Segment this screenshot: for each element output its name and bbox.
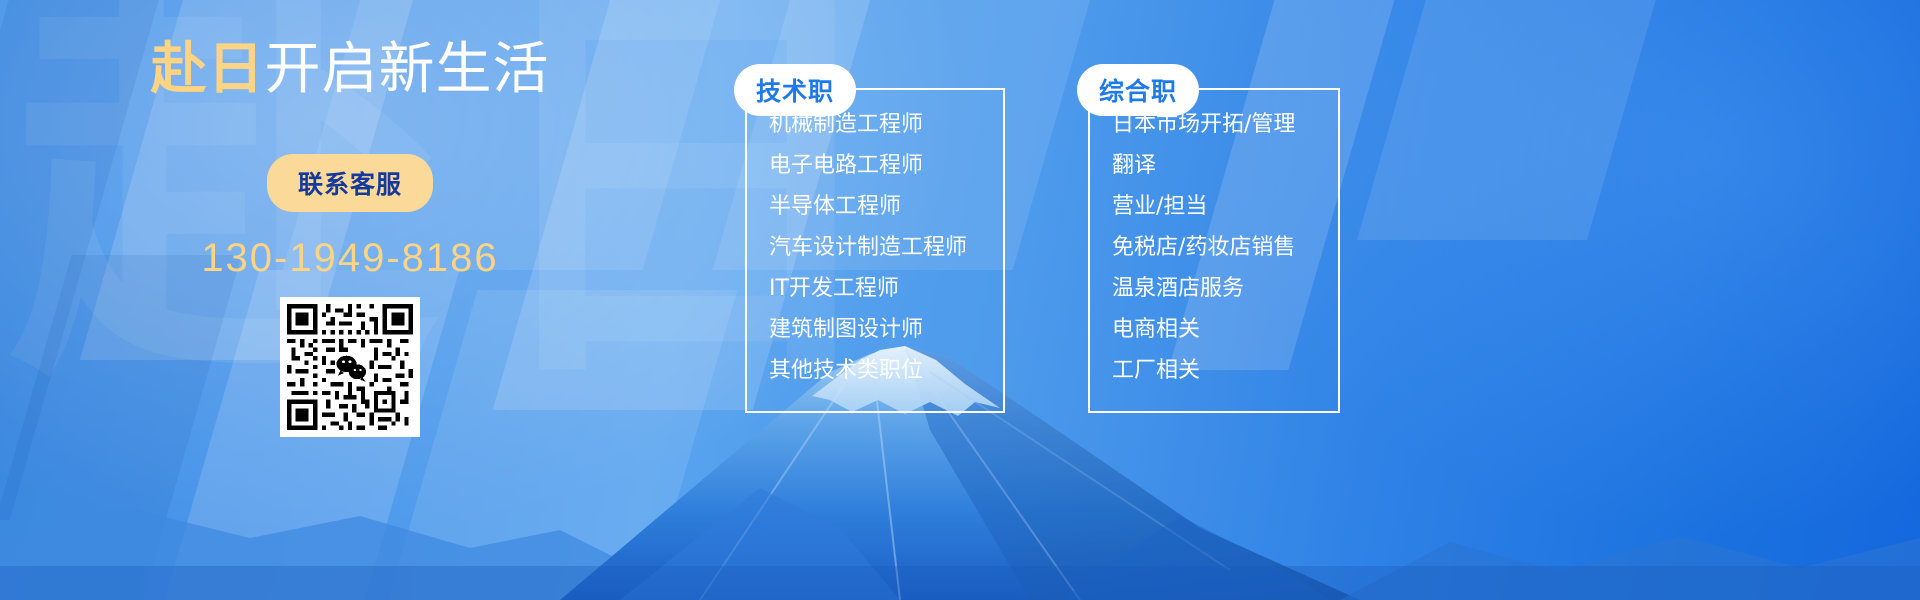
job-list-general: 日本市场开拓/管理 翻译 营业/担当 免税店/药妆店销售 温泉酒店服务 电商相关…	[1112, 114, 1295, 382]
job-item[interactable]: 翻译	[1112, 155, 1295, 177]
headline-rest: 开启新生活	[265, 37, 550, 102]
decor-slab	[1357, 0, 1673, 240]
job-item[interactable]: 营业/担当	[1112, 196, 1295, 218]
hero-block: 赴日开启新生活 联系客服 130-1949-8186	[0, 0, 700, 600]
job-item[interactable]: 建筑制图设计师	[769, 319, 967, 341]
job-item[interactable]: 日本市场开拓/管理	[1112, 114, 1295, 136]
job-item[interactable]: 电商相关	[1112, 319, 1295, 341]
phone-number[interactable]: 130-1949-8186	[201, 236, 498, 281]
headline-highlight: 赴日	[151, 37, 265, 102]
job-item[interactable]: 免税店/药妆店销售	[1112, 237, 1295, 259]
job-list-tech: 机械制造工程师 电子电路工程师 半导体工程师 汽车设计制造工程师 IT开发工程师…	[769, 114, 967, 382]
qr-code[interactable]	[280, 297, 420, 437]
job-item[interactable]: 温泉酒店服务	[1112, 278, 1295, 300]
job-panel-general: 综合职 日本市场开拓/管理 翻译 营业/担当 免税店/药妆店销售 温泉酒店服务 …	[1088, 88, 1340, 413]
job-item[interactable]: 汽车设计制造工程师	[769, 237, 967, 259]
job-item[interactable]: IT开发工程师	[769, 278, 967, 300]
job-item[interactable]: 工厂相关	[1112, 360, 1295, 382]
qr-code-image	[287, 304, 413, 430]
job-item[interactable]: 其他技术类职位	[769, 360, 967, 382]
contact-support-button[interactable]: 联系客服	[267, 154, 433, 212]
job-panel-tech: 技术职 机械制造工程师 电子电路工程师 半导体工程师 汽车设计制造工程师 IT开…	[745, 88, 1005, 413]
panel-badge-tech[interactable]: 技术职	[734, 64, 856, 116]
promo-banner: 赴日	[0, 0, 1920, 600]
page-title: 赴日开启新生活	[151, 42, 550, 98]
job-item[interactable]: 电子电路工程师	[769, 155, 967, 177]
panel-badge-general[interactable]: 综合职	[1077, 64, 1199, 116]
job-item[interactable]: 机械制造工程师	[769, 114, 967, 136]
job-item[interactable]: 半导体工程师	[769, 196, 967, 218]
